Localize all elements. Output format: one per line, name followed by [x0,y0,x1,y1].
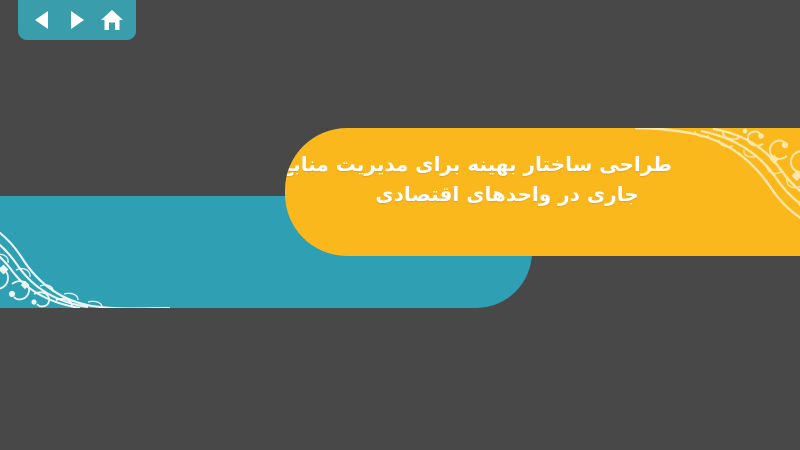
slide-navigation-bar [18,0,136,40]
slide-canvas: طراحی ساختار بهینه برای مدیریت منابع جار… [0,0,800,450]
slide-title-line-2: جاری در واحدهای اقتصادی [342,180,672,210]
home-button[interactable] [97,6,127,34]
orange-title-panel: طراحی ساختار بهینه برای مدیریت منابع جار… [285,128,800,256]
home-icon [100,9,124,32]
slide-title: طراحی ساختار بهینه برای مدیریت منابع جار… [342,150,672,209]
next-slide-button[interactable] [62,6,92,34]
slide-title-line-1: طراحی ساختار بهینه برای مدیریت منابع [342,150,672,180]
triangle-left-icon [32,9,52,31]
arabesque-ornament-teal [0,196,170,308]
triangle-right-icon [67,9,87,31]
previous-slide-button[interactable] [27,6,57,34]
